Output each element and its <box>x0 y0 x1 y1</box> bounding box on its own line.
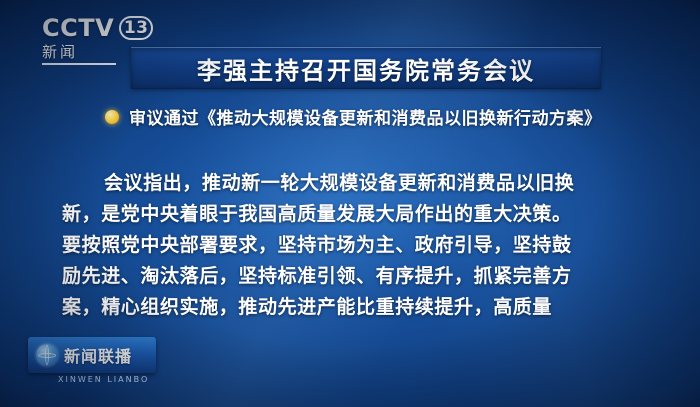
program-bug-box: 新闻联播 <box>28 337 156 373</box>
broadcast-screen: CCTV 13 新闻 李强主持召开国务院常务会议 审议通过《推动大规模设备更新和… <box>0 0 700 407</box>
body-line: 案，精心组织实施，推动先进产能比重持续提升，高质量 <box>62 292 654 323</box>
body-line: 新，是党中央着眼于我国高质量发展大局作出的重大决策。 <box>62 199 654 230</box>
program-name-en: XINWEN LIANBO <box>58 375 149 384</box>
program-name-cn: 新闻联播 <box>64 343 132 367</box>
subheadline-row: 审议通过《推动大规模设备更新和消费品以旧换新行动方案》 <box>105 104 625 129</box>
headline-title: 李强主持召开国务院常务会议 <box>197 51 535 86</box>
body-paragraph: 会议指出，推动新一轮大规模设备更新和消费品以旧换 新，是党中央着眼于我国高质量发… <box>62 168 654 323</box>
globe-icon <box>36 344 58 366</box>
body-line: 励先进、淘汰落后，坚持标准引领、有序提升，抓紧完善方 <box>62 261 654 292</box>
body-line: 会议指出，推动新一轮大规模设备更新和消费品以旧换 <box>62 168 654 199</box>
cctv-wordmark: CCTV <box>42 16 114 40</box>
cctv-channel-number: 13 <box>119 16 153 40</box>
dot-bullet-icon <box>105 110 119 124</box>
cctv-logo-row: CCTV 13 <box>42 16 162 40</box>
subheadline-text: 审议通过《推动大规模设备更新和消费品以旧换新行动方案》 <box>129 104 602 129</box>
headline-banner: 李强主持召开国务院常务会议 <box>131 47 601 89</box>
program-bug: 新闻联播 XINWEN LIANBO <box>28 337 156 389</box>
cctv-logo-underline <box>42 63 116 65</box>
body-line: 要按照党中央部署要求，坚持市场为主、政府引导，坚持鼓 <box>62 230 654 261</box>
